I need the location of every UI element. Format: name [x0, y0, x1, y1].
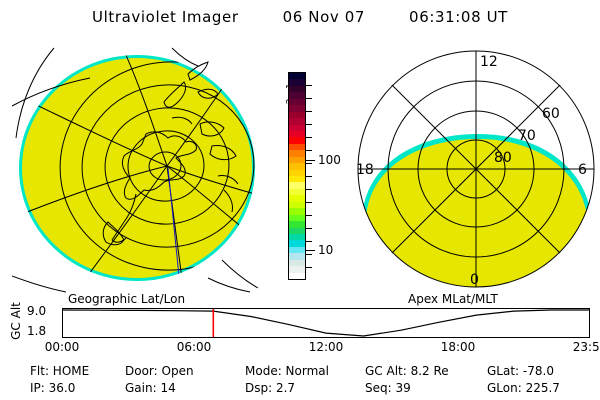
status-gain: Gain: 14: [125, 381, 176, 395]
altitude-trace: [63, 310, 589, 336]
mlt-label-0: 0: [470, 272, 479, 288]
apex-mlat-mlt-panel[interactable]: 12 6 0 18 60 70 80: [354, 44, 598, 294]
uvi-display-window: Ultraviolet Imager 06 Nov 07 06:31:08 UT: [0, 0, 600, 400]
mlt-label-18: 18: [356, 162, 374, 178]
observation-date: 06 Nov 07: [283, 8, 365, 26]
strip-xtick-label: 12:00: [309, 340, 344, 354]
strip-ytick-low: 1.8: [27, 324, 46, 338]
mlt-label-6: 6: [578, 162, 587, 178]
strip-title-geographic: Geographic Lat/Lon: [68, 292, 185, 306]
geographic-globe-panel[interactable]: [12, 46, 262, 294]
colorbar-minor-tick: [306, 111, 312, 112]
colorbar-minor-tick: [306, 176, 312, 177]
colorbar-minor-tick: [306, 85, 312, 86]
colorbar-major-tick: [306, 160, 315, 161]
geographic-globe-svg: [12, 46, 262, 294]
colorbar-minor-tick: [306, 98, 312, 99]
colorbar-segment: [289, 273, 305, 279]
status-ip: IP: 36.0: [30, 381, 75, 395]
status-seq: Seq: 39: [365, 381, 411, 395]
colorbar-tick-label: 10: [318, 243, 333, 257]
mlt-polar-svg: 12 6 0 18 60 70 80: [354, 44, 598, 294]
colorbar-ticks: 10010: [306, 72, 352, 280]
colorbar-minor-tick: [306, 228, 312, 229]
status-row-2: IP: 36.0 Gain: 14 Dsp: 2.7 Seq: 39 GLon:…: [0, 381, 600, 398]
colorbar-minor-tick: [306, 254, 312, 255]
colorbar-major-tick: [306, 250, 315, 251]
status-mode: Mode: Normal: [245, 364, 329, 378]
strip-xaxis: 00:0006:0012:0018:0023:59: [0, 340, 600, 358]
strip-ytick-high: 9.0: [27, 304, 46, 318]
status-glon: GLon: 225.7: [487, 381, 560, 395]
colorbar-minor-tick: [306, 215, 312, 216]
mlat-label-60: 60: [542, 106, 560, 122]
status-block: Flt: HOME Door: Open Mode: Normal GC Alt…: [0, 364, 600, 400]
status-gcalt: GC Alt: 8.2 Re: [365, 364, 449, 378]
status-row-1: Flt: HOME Door: Open Mode: Normal GC Alt…: [0, 364, 600, 381]
mlat-label-80: 80: [494, 150, 512, 166]
colorbar-minor-tick: [306, 189, 312, 190]
strip-xtick-label: 23:59: [573, 340, 600, 354]
altitude-trace-svg: [63, 309, 589, 337]
colorbar-gradient: [288, 72, 306, 280]
status-glat: GLat: -78.0: [487, 364, 554, 378]
status-door: Door: Open: [125, 364, 194, 378]
status-flt: Flt: HOME: [30, 364, 89, 378]
colorbar-minor-tick: [306, 150, 312, 151]
colorbar-minor-tick: [306, 137, 312, 138]
colorbar-panel: photon cm-2s-1 10010: [266, 58, 352, 293]
observation-time: 06:31:08 UT: [409, 8, 508, 26]
strip-xtick-label: 18:00: [441, 340, 476, 354]
colorbar-minor-tick: [306, 267, 312, 268]
colorbar-minor-tick: [306, 163, 312, 164]
strip-plot-area[interactable]: [62, 308, 590, 338]
strip-xtick-label: 00:00: [45, 340, 80, 354]
mlt-label-12: 12: [480, 54, 498, 70]
strip-title-apex: Apex MLat/MLT: [408, 292, 498, 306]
header-bar: Ultraviolet Imager 06 Nov 07 06:31:08 UT: [0, 4, 600, 30]
colorbar-minor-tick: [306, 202, 312, 203]
instrument-title: Ultraviolet Imager: [92, 8, 239, 26]
status-dsp: Dsp: 2.7: [245, 381, 295, 395]
colorbar-minor-tick: [306, 241, 312, 242]
altitude-strip-chart-panel[interactable]: Geographic Lat/Lon Apex MLat/MLT GC Alt …: [0, 292, 600, 362]
strip-xtick-label: 06:00: [177, 340, 212, 354]
colorbar-minor-tick: [306, 124, 312, 125]
mlt-spokes: [358, 51, 594, 287]
mlat-label-70: 70: [518, 128, 536, 144]
colorbar-tick-label: 100: [318, 153, 341, 167]
